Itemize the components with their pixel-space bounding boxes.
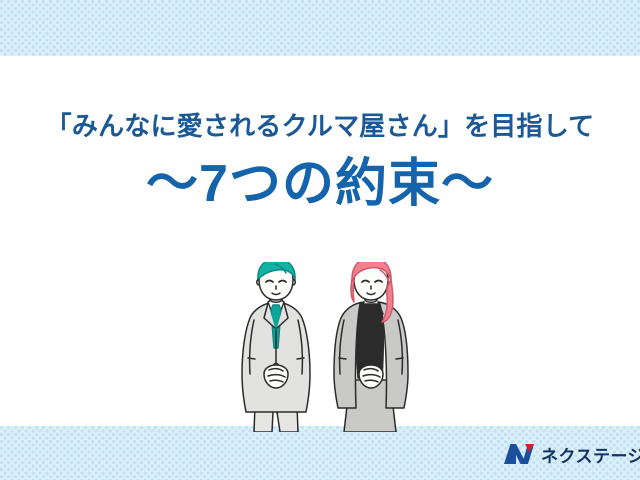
male-staff-figure — [242, 262, 310, 432]
headline-secondary: ～7つの約束～ — [0, 156, 640, 212]
headline-block: 「みんなに愛されるクルマ屋さん」を目指して ～7つの約束～ — [0, 112, 640, 212]
slide-canvas: 「みんなに愛されるクルマ屋さん」を目指して ～7つの約束～ — [0, 0, 640, 480]
nextage-n-logo-icon — [504, 443, 534, 470]
female-staff-figure — [334, 262, 408, 432]
brand-logo: ネクステージ — [504, 442, 630, 470]
staff-illustration — [228, 262, 428, 432]
top-dotted-band — [0, 0, 640, 56]
headline-primary: 「みんなに愛されるクルマ屋さん」を目指して — [0, 112, 640, 142]
brand-wordmark: ネクステージ — [541, 448, 640, 465]
